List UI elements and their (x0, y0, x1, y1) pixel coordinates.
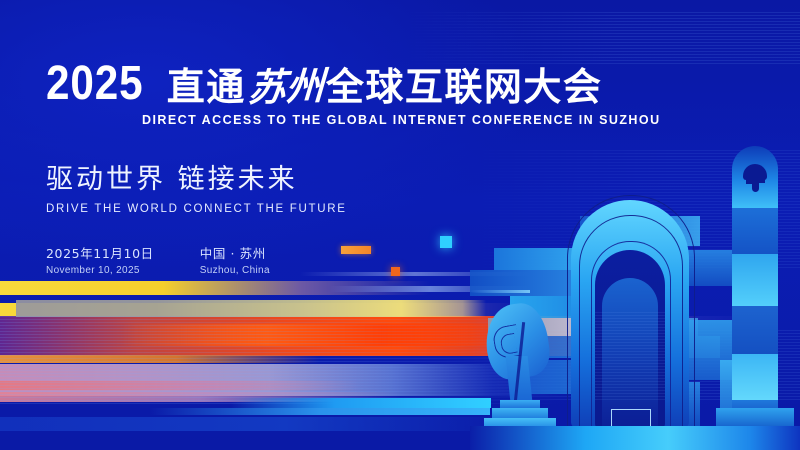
title-cn-pre: 直通 (167, 68, 246, 106)
skyline-ground-line (470, 426, 800, 450)
streak-yellow-3 (0, 303, 520, 316)
streak-yellow-2 (0, 281, 430, 295)
streak-cyan-2 (150, 408, 490, 415)
streak-yellow-1 (0, 281, 430, 295)
event-location: 中国 · 苏州 Suzhou, China (200, 243, 270, 276)
main-title-row: 2025 直通苏州全球互联网大会 (46, 62, 666, 106)
event-date: 2025年11月10日 November 10, 2025 (46, 243, 154, 276)
slogan-en: DRIVE THE WORLD CONNECT THE FUTURE (46, 203, 666, 215)
title-cn-brush-suzhou: 苏州 (245, 67, 327, 107)
streak-cyan-1 (231, 398, 491, 408)
main-title-en: DIRECT ACCESS TO THE GLOBAL INTERNET CON… (142, 113, 666, 127)
scanline-texture-top (400, 12, 800, 64)
title-cn-post: 全球互联网大会 (326, 68, 603, 106)
poster-text-block: 2025 直通苏州全球互联网大会 DIRECT ACCESS TO THE GL… (46, 62, 666, 276)
event-location-en: Suzhou, China (200, 265, 270, 276)
streak-orange-thin (0, 355, 320, 363)
cyan-dot-accent (470, 290, 530, 293)
event-meta: 2025年11月10日 November 10, 2025 中国 · 苏州 Su… (46, 243, 666, 276)
slogan-cn: 驱动世界 链接未来 (46, 157, 666, 196)
event-location-cn: 中国 · 苏州 (200, 243, 270, 262)
year-label: 2025 (46, 62, 143, 106)
event-date-cn: 2025年11月10日 (46, 243, 154, 262)
streak-rose (0, 381, 360, 390)
main-title-cn: 直通苏州全球互联网大会 (167, 68, 603, 106)
event-date-en: November 10, 2025 (46, 265, 154, 276)
suzhou-tower-icon (732, 146, 778, 428)
streak-blue-dark (0, 417, 520, 431)
streak-pink-thin (0, 392, 400, 402)
conference-poster: 2025 直通苏州全球互联网大会 DIRECT ACCESS TO THE GL… (0, 0, 800, 450)
streak-gray-yellow (16, 300, 486, 317)
pagoda-sculpture-icon (478, 304, 564, 428)
